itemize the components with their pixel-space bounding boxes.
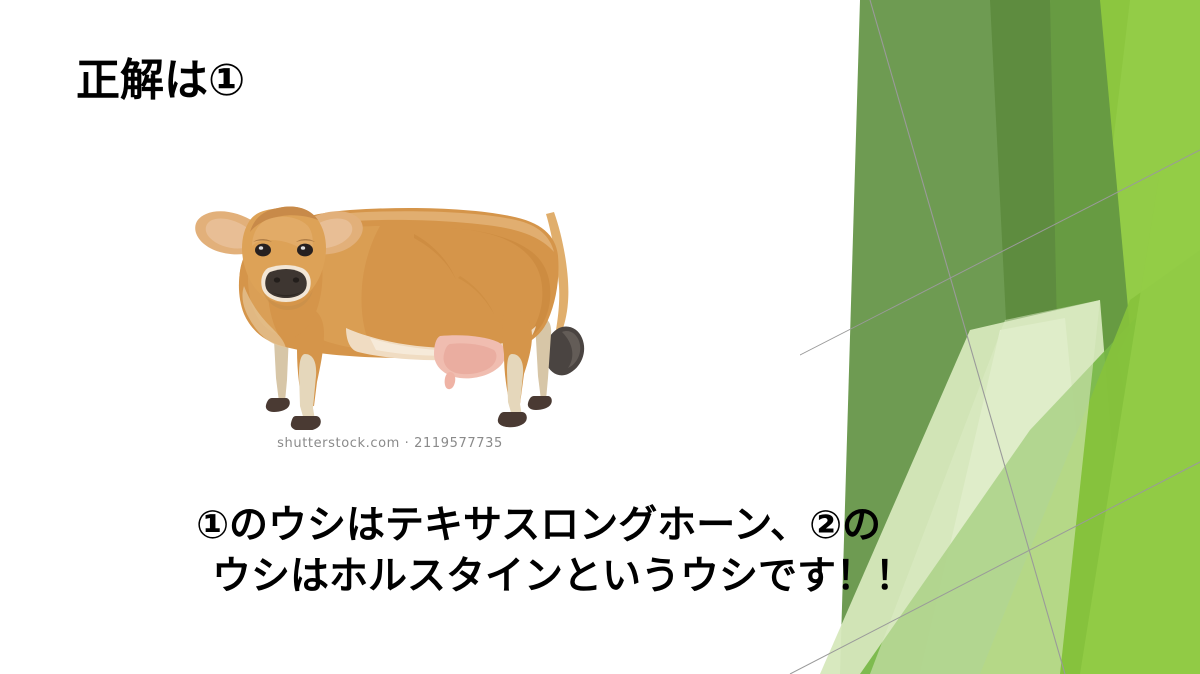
decor-shape-bright-wedge — [1050, 0, 1200, 674]
caption-line-2: ウシはホルスタインというウシです！！ — [196, 551, 876, 602]
decor-shape-deep-green — [990, 0, 1090, 500]
decor-shape-very-pale-wedge — [920, 318, 1100, 674]
cow-hindleg-near-lower — [507, 354, 523, 416]
slide-canvas: 正解は① — [0, 0, 1200, 674]
cow-hoof-hind-near — [498, 412, 527, 427]
decor-shape-light-overlay — [870, 300, 1100, 674]
decor-shape-bright-right — [930, 0, 1200, 674]
cow-eye-left — [255, 244, 271, 257]
cow-eye-left-highlight — [259, 246, 263, 250]
cow-eye-right-highlight — [301, 246, 305, 250]
cow-foreleg-near-lower — [299, 354, 316, 420]
caption-line-1: ①のウシはテキサスロングホーン、②の — [196, 500, 876, 551]
decor-shape-lower-bright — [980, 250, 1200, 674]
cow-nostril-left — [274, 277, 280, 282]
cow-illustration — [150, 168, 630, 430]
cow-muzzle — [265, 269, 307, 298]
decor-line-shallow — [800, 150, 1200, 560]
cow-udder-teat — [445, 372, 456, 389]
cow-hoof-fore-far — [266, 398, 290, 412]
decor-shape-pale-sheet — [820, 300, 1130, 674]
page-title: 正解は① — [76, 58, 245, 104]
cow-hoof-fore-near — [291, 416, 321, 430]
cow-hoof-hind-far — [528, 396, 552, 410]
cow-eye-right — [297, 244, 313, 257]
picture-block: shutterstock.com · 2119577735 — [150, 168, 630, 468]
decor-shape-dark-green — [1050, 0, 1130, 470]
decor-shape-lower-mid-green — [860, 250, 1200, 674]
cow-nostril-right — [293, 277, 299, 282]
image-watermark: shutterstock.com · 2119577735 — [150, 436, 630, 451]
caption-text: ①のウシはテキサスロングホーン、②の ウシはホルスタインというウシです！！ — [196, 500, 876, 603]
decor-shape-far-right-strip — [1080, 150, 1200, 674]
